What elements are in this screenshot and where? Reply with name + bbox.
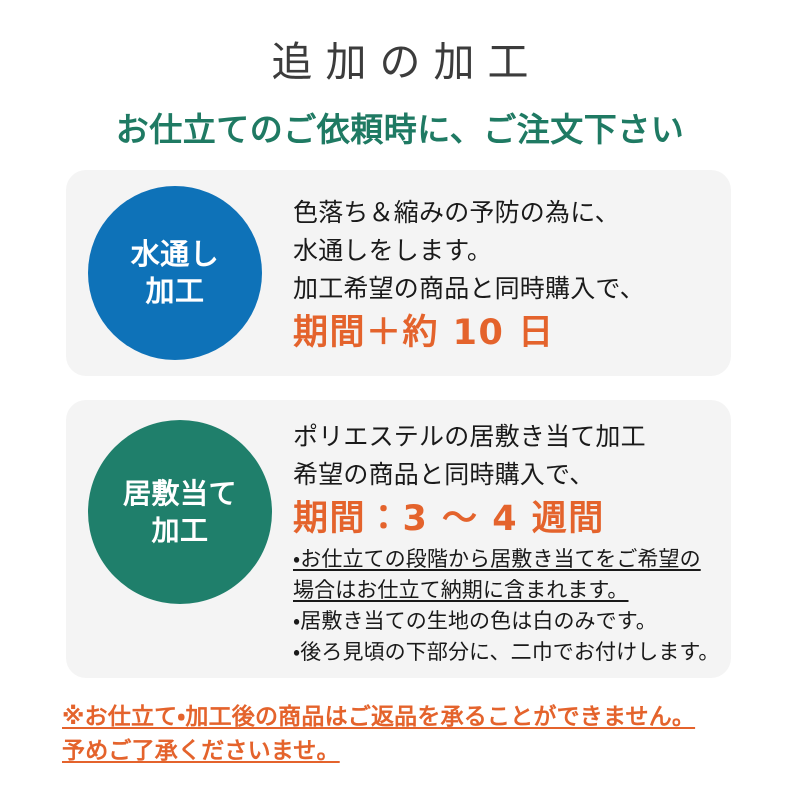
- badge-mizutoshi-line-1: 水通し: [131, 236, 220, 273]
- card-ishikiate-note-2-text: 場合はお仕立て納期に含まれます。: [293, 578, 629, 602]
- card-ishikiate-duration-highlight: 期間：3 〜 4 週間: [293, 494, 717, 544]
- card-mizutoshi-text-line-2: 水通しをします。: [293, 232, 717, 270]
- page-subtitle: お仕立てのご依頼時に、ご注文下さい: [0, 108, 800, 152]
- card-ishikiate-note-4: ・後ろ見頃の下部分に、二巾でお付けします。: [293, 637, 717, 668]
- card-ishikiate-note-2: 場合はお仕立て納期に含まれます。: [293, 575, 717, 606]
- card-mizutoshi-body: 色落ち＆縮みの予防の為に、 水通しをします。 加工希望の商品と同時購入で、 期間…: [293, 194, 717, 358]
- badge-mizutoshi-line-2: 加工: [145, 273, 204, 310]
- badge-ishikiate-line-2: 加工: [151, 512, 208, 549]
- infographic-page: 追加の加工 お仕立てのご依頼時に、ご注文下さい 水通し 加工 色落ち＆縮みの予防…: [0, 0, 800, 800]
- footer-warning-line-2: 予めご了承くださいませ。: [62, 734, 762, 768]
- card-ishikiate-text-line-1: ポリエステルの居敷き当て加工: [293, 418, 717, 456]
- card-ishikiate-note-4-text: ・後ろ見頃の下部分に、二巾でお付けします。: [293, 640, 720, 664]
- card-ishikiate-text-line-2: 希望の商品と同時購入で、: [293, 456, 717, 494]
- footer-warning-line-1: ※お仕立て・加工後の商品はご返品を承ることができません。: [62, 700, 762, 734]
- card-ishikiate-note-1: ・お仕立ての段階から居敷き当てをご希望の: [293, 544, 717, 575]
- card-ishikiate-note-3: ・居敷き当ての生地の色は白のみです。: [293, 606, 717, 637]
- page-title: 追加の加工: [0, 36, 800, 88]
- badge-mizutoshi: 水通し 加工: [88, 186, 262, 360]
- card-ishikiate: 居敷当て 加工 ポリエステルの居敷き当て加工 希望の商品と同時購入で、 期間：3…: [66, 400, 731, 678]
- card-ishikiate-note-1-text: ・お仕立ての段階から居敷き当てをご希望の: [293, 547, 701, 571]
- card-ishikiate-body: ポリエステルの居敷き当て加工 希望の商品と同時購入で、 期間：3 〜 4 週間 …: [293, 418, 717, 668]
- badge-ishikiate: 居敷当て 加工: [88, 420, 272, 604]
- card-ishikiate-note-3-text: ・居敷き当ての生地の色は白のみです。: [293, 609, 657, 633]
- card-mizutoshi-text-line-3: 加工希望の商品と同時購入で、: [293, 270, 717, 308]
- footer-warning: ※お仕立て・加工後の商品はご返品を承ることができません。 予めご了承くださいませ…: [62, 700, 762, 768]
- card-mizutoshi-text-line-1: 色落ち＆縮みの予防の為に、: [293, 194, 717, 232]
- badge-ishikiate-line-1: 居敷当て: [123, 475, 237, 512]
- card-mizutoshi: 水通し 加工 色落ち＆縮みの予防の為に、 水通しをします。 加工希望の商品と同時…: [66, 170, 731, 376]
- card-mizutoshi-duration-highlight: 期間＋約 10 日: [293, 308, 717, 358]
